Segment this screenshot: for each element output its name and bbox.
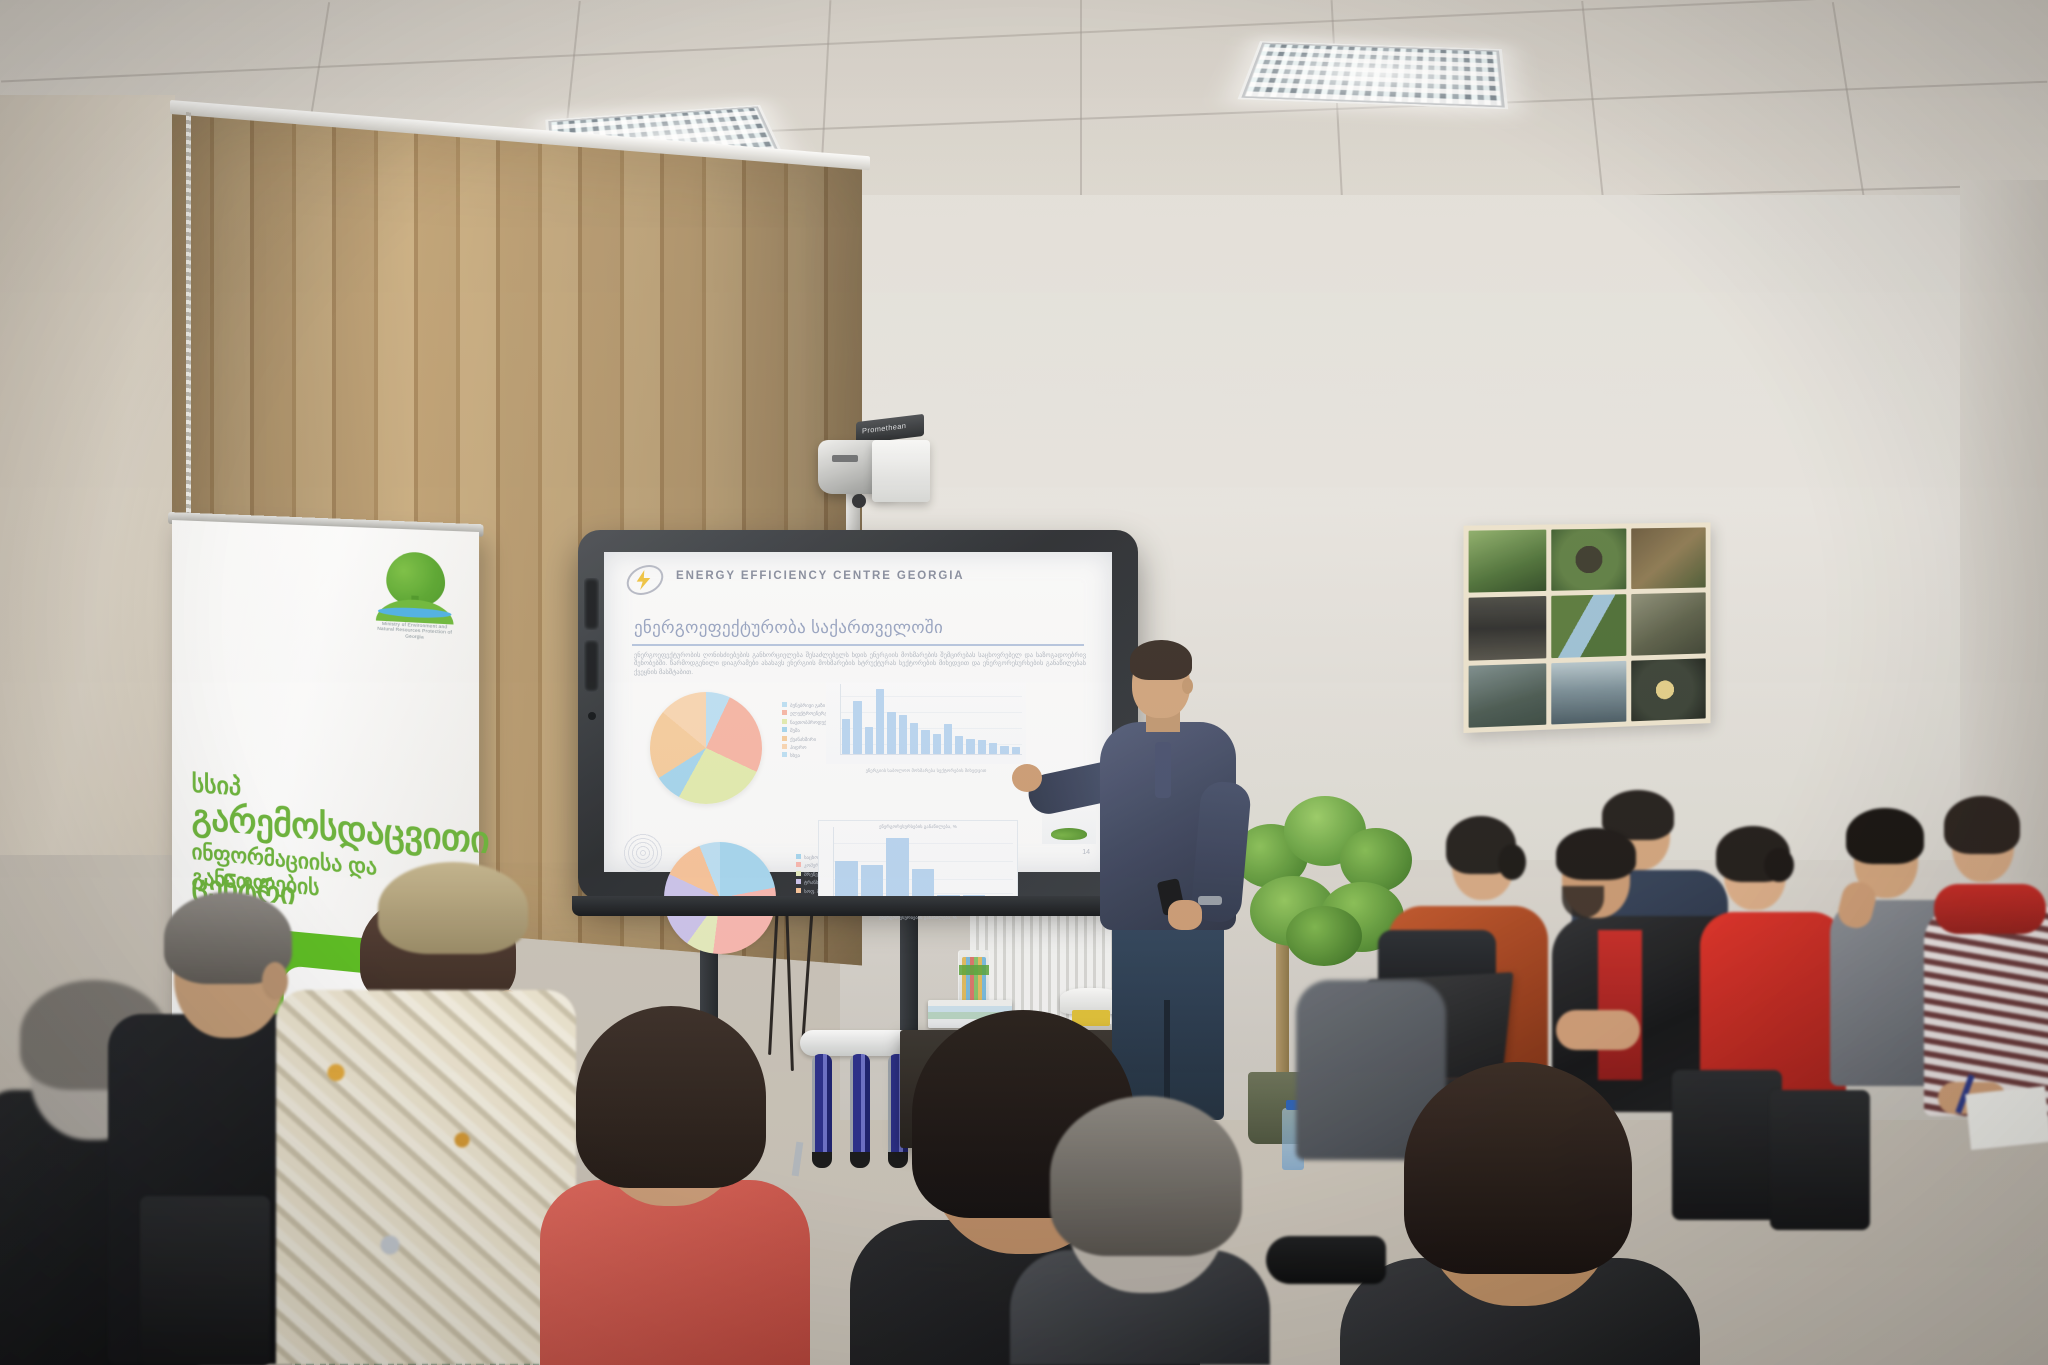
slide-divider xyxy=(632,644,1084,646)
bar-chart-bottom-bars xyxy=(835,829,1011,901)
bar xyxy=(865,727,873,754)
bar xyxy=(887,712,895,754)
hair-bun xyxy=(1764,848,1794,882)
projector-lens-housing xyxy=(872,440,930,502)
bar xyxy=(989,743,997,754)
presenter-collar-placket xyxy=(1155,742,1171,798)
slide-body-text: ენერგოეფექტურობის ღონისძიებების განხორცი… xyxy=(634,652,1086,677)
bar xyxy=(966,739,974,754)
ceiling-light-fixture xyxy=(1238,41,1509,109)
presenter-hand xyxy=(1168,900,1202,930)
bar xyxy=(1012,747,1020,754)
bar xyxy=(955,736,963,754)
notepad xyxy=(1965,1086,2048,1150)
wall-photo xyxy=(1469,596,1546,660)
wall-photo xyxy=(1551,528,1627,591)
eec-logo-icon xyxy=(622,562,668,598)
chair[interactable] xyxy=(1770,1090,1870,1230)
red-scarf xyxy=(1934,884,2046,934)
bar xyxy=(899,715,907,754)
whiteboard-side-rail[interactable] xyxy=(584,640,599,692)
presenter-pointing-hand xyxy=(1012,764,1042,792)
hair-bun xyxy=(1498,844,1526,880)
left-wall xyxy=(0,95,175,855)
chair[interactable] xyxy=(1672,1070,1782,1220)
wall-photo xyxy=(1551,594,1627,657)
wall-photo xyxy=(1469,530,1546,593)
wall-photo-grid xyxy=(1463,522,1710,733)
ear xyxy=(262,962,288,1000)
solar-tube xyxy=(812,1054,832,1160)
bar xyxy=(933,734,941,754)
hands xyxy=(1556,1010,1640,1050)
slide-pie-chart-top xyxy=(650,692,762,804)
wall-photo xyxy=(1632,527,1706,589)
ministry-logo-icon: Ministry of Environment and Natural Reso… xyxy=(374,551,456,642)
bar-chart-top-caption: ენერგიის საბოლოო მოხმარება სექტორების მი… xyxy=(826,768,1026,774)
bar xyxy=(1000,746,1008,754)
bar xyxy=(835,861,858,901)
slide-header-title: ENERGY EFFICIENCY CENTRE GEORGIA xyxy=(676,570,965,582)
chair[interactable] xyxy=(140,1196,270,1365)
presenter-ear xyxy=(1182,678,1193,694)
red-shirt-front xyxy=(1598,930,1642,1080)
seminar-room-photo: Ministry of Environment and Natural Reso… xyxy=(0,0,2048,1365)
slide-heading: ენერგოეფექტურობა საქართველოში xyxy=(634,618,943,638)
wall-photo xyxy=(1632,658,1706,721)
presenter-watch xyxy=(1198,896,1222,905)
bar-chart-top-bars xyxy=(842,686,1020,754)
bar xyxy=(886,838,909,901)
shoe xyxy=(1266,1236,1386,1284)
projector-brand-label: Promethean xyxy=(862,421,906,435)
wall-photo xyxy=(1632,593,1706,656)
bar xyxy=(910,723,918,754)
floral-coat xyxy=(276,990,576,1365)
wall-photo xyxy=(1551,660,1627,724)
whiteboard-side-rail[interactable] xyxy=(584,578,599,630)
slide-bar-chart-top: ენერგიის საბოლოო მოხმარება სექტორების მი… xyxy=(826,678,1026,764)
bar xyxy=(876,689,884,754)
whiteboard-status-led xyxy=(588,712,596,720)
bar xyxy=(921,730,929,754)
ministry-logo-caption: Ministry of Environment and Natural Reso… xyxy=(374,620,456,641)
bar xyxy=(978,740,986,754)
bar xyxy=(842,719,850,754)
solar-tube xyxy=(850,1054,870,1160)
wall-photo xyxy=(1469,663,1546,728)
projector-vent xyxy=(832,455,858,462)
bar xyxy=(853,701,861,754)
bar xyxy=(944,724,952,754)
presenter-hair xyxy=(1130,640,1192,680)
presentation-slide[interactable]: ENERGY EFFICIENCY CENTRE GEORGIA ენერგოე… xyxy=(604,552,1112,872)
slide-number: 14 xyxy=(1082,849,1090,856)
whiteboard-pen-tray[interactable] xyxy=(572,896,1144,916)
slide-spiral-decoration-icon xyxy=(622,832,664,874)
projector-adjust-knob[interactable] xyxy=(852,494,866,508)
